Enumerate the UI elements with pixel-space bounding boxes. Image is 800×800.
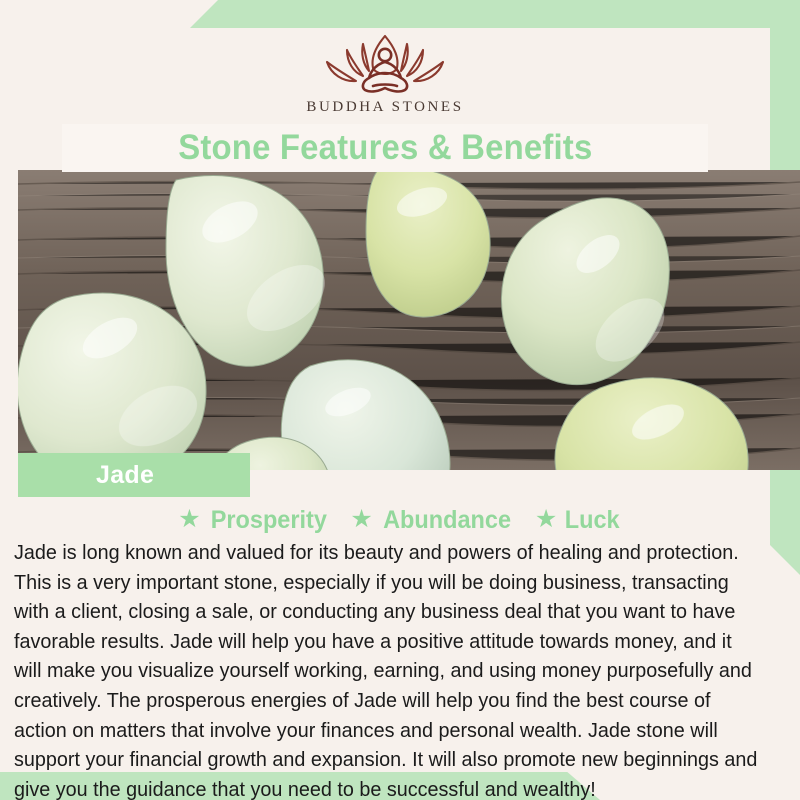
lotus-meditation-icon bbox=[311, 31, 459, 97]
benefit-item: ★ Luck bbox=[535, 506, 622, 535]
benefit-label: Abundance bbox=[383, 506, 511, 535]
star-icon: ★ bbox=[178, 507, 200, 532]
benefit-label: Luck bbox=[565, 506, 620, 535]
stone-photo bbox=[18, 170, 800, 470]
stone-name: Jade bbox=[96, 461, 154, 490]
header-title-band: Stone Features & Benefits bbox=[62, 124, 708, 172]
jade-stones-illustration bbox=[18, 170, 800, 470]
star-icon: ★ bbox=[535, 507, 557, 532]
stone-name-bar: Jade bbox=[18, 453, 250, 497]
benefit-label: Prosperity bbox=[210, 506, 326, 535]
brand-wordmark: BUDDHA STONES bbox=[306, 99, 463, 116]
brand-logo: BUDDHA STONES bbox=[0, 28, 770, 122]
stone-info-poster: BUDDHA STONES Stone Features & Benefits bbox=[0, 0, 800, 800]
benefit-item: ★ Abundance bbox=[350, 506, 515, 535]
page-title: Stone Features & Benefits bbox=[178, 128, 592, 168]
star-icon: ★ bbox=[350, 507, 372, 532]
benefit-item: ★ Prosperity bbox=[178, 506, 330, 535]
stone-description: Jade is long known and valued for its be… bbox=[14, 538, 759, 800]
poster-inner-canvas: BUDDHA STONES Stone Features & Benefits bbox=[0, 28, 770, 772]
frame-top-band bbox=[0, 0, 800, 30]
benefits-row: ★ Prosperity ★ Abundance ★ Luck bbox=[0, 506, 800, 535]
